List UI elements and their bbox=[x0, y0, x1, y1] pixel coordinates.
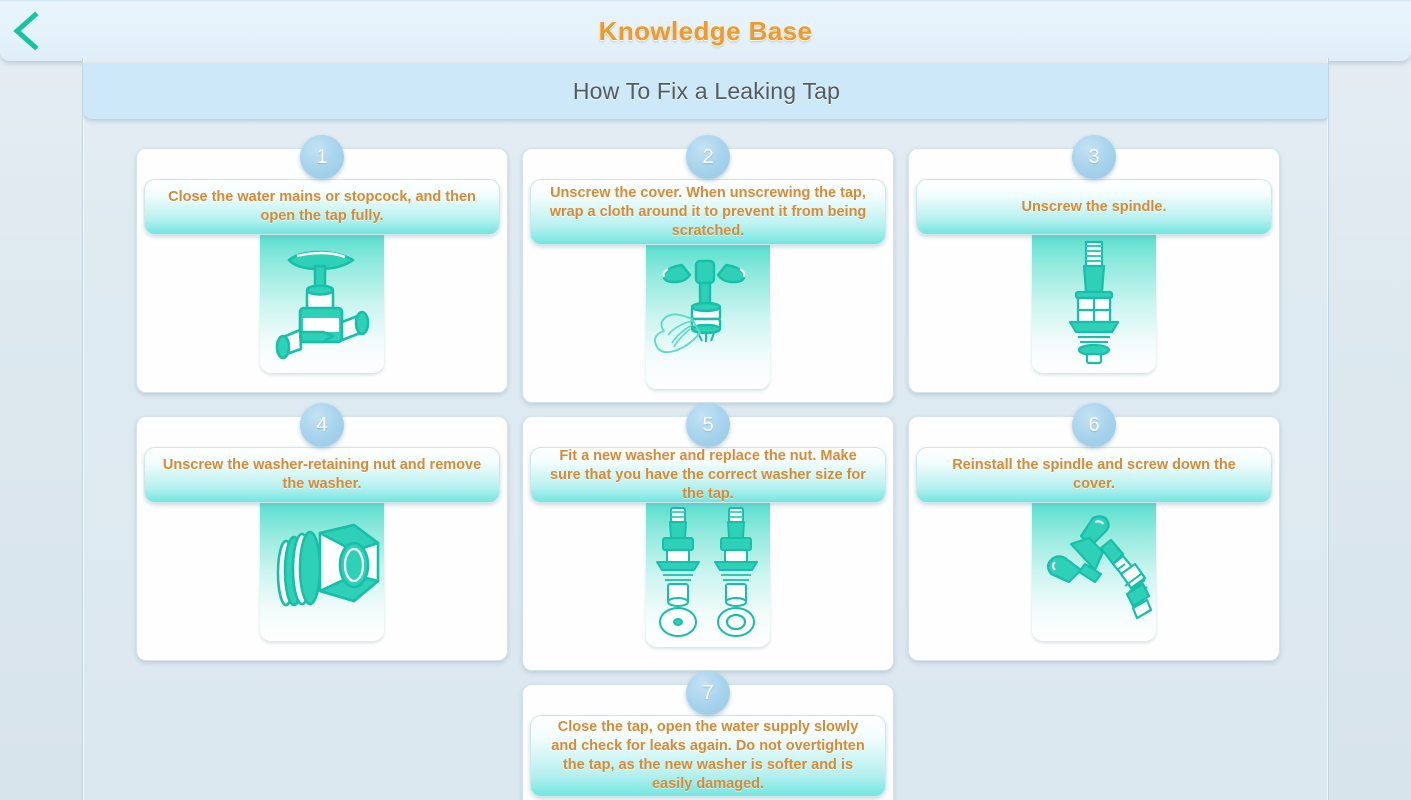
step-image-panel bbox=[1032, 499, 1156, 641]
step-text-bubble: Unscrew the spindle. bbox=[916, 179, 1272, 235]
step-text: Reinstall the spindle and screw down the… bbox=[931, 456, 1257, 494]
grid-spacer bbox=[901, 684, 1287, 800]
step-text-bubble: Fit a new washer and replace the nut. Ma… bbox=[530, 447, 886, 503]
step-text: Close the tap, open the water supply slo… bbox=[545, 718, 871, 794]
app-header: Knowledge Base bbox=[0, 0, 1411, 62]
content-panel: How To Fix a Leaking Tap 1 Close the wat… bbox=[82, 58, 1329, 800]
grid-cell: 7 Close the tap, open the water supply s… bbox=[515, 684, 901, 800]
tap-spindle-illustration bbox=[1046, 238, 1142, 366]
step-text: Unscrew the washer-retaining nut and rem… bbox=[159, 456, 485, 494]
step-text-bubble: Unscrew the washer-retaining nut and rem… bbox=[144, 447, 500, 503]
step-text: Unscrew the spindle. bbox=[1021, 198, 1166, 217]
step-image-panel bbox=[260, 231, 384, 373]
page-title: How To Fix a Leaking Tap bbox=[573, 78, 840, 105]
step-image-panel bbox=[646, 241, 770, 389]
grid-cell: 5 Fit a new washer and replace the nut. … bbox=[515, 416, 901, 671]
step-number-badge: 1 bbox=[300, 135, 344, 179]
chevron-left-icon bbox=[11, 11, 41, 51]
grid-cell: 4 Unscrew the washer-retaining nut and r… bbox=[129, 416, 515, 671]
step-text: Fit a new washer and replace the nut. Ma… bbox=[545, 447, 871, 504]
grid-cell: 1 Close the water mains or stopcock, and… bbox=[129, 148, 515, 403]
step-text: Close the water mains or stopcock, and t… bbox=[159, 188, 485, 226]
app-title: Knowledge Base bbox=[0, 0, 1411, 62]
step-number-badge: 4 bbox=[300, 403, 344, 447]
step-card[interactable]: 3 Unscrew the spindle. bbox=[908, 148, 1280, 393]
step-image-panel bbox=[260, 499, 384, 641]
stopcock-valve-illustration bbox=[267, 238, 377, 366]
step-card[interactable]: 5 Fit a new washer and replace the nut. … bbox=[522, 416, 894, 671]
two-spindles-and-washers-illustration bbox=[649, 504, 767, 642]
step-card[interactable]: 2 Unscrew the cover. When unscrewing the… bbox=[522, 148, 894, 403]
grid-cell: 6 Reinstall the spindle and screw down t… bbox=[901, 416, 1287, 671]
step-number-badge: 2 bbox=[686, 135, 730, 179]
steps-grid: 1 Close the water mains or stopcock, and… bbox=[129, 148, 1289, 800]
tap-wrapped-in-cloth-illustration bbox=[652, 249, 764, 381]
step-number-badge: 5 bbox=[686, 403, 730, 447]
grid-spacer bbox=[129, 684, 515, 800]
step-text-bubble: Unscrew the cover. When unscrewing the t… bbox=[530, 179, 886, 245]
step-image-panel bbox=[646, 499, 770, 647]
step-card[interactable]: 1 Close the water mains or stopcock, and… bbox=[136, 148, 508, 393]
step-card[interactable]: 7 Close the tap, open the water supply s… bbox=[522, 684, 894, 800]
step-card[interactable]: 6 Reinstall the spindle and screw down t… bbox=[908, 416, 1280, 661]
app-root: Knowledge Base How To Fix a Leaking Tap … bbox=[0, 0, 1411, 800]
step-image-panel bbox=[1032, 231, 1156, 373]
step-text: Unscrew the cover. When unscrewing the t… bbox=[545, 184, 871, 241]
step-text-bubble: Close the tap, open the water supply slo… bbox=[530, 715, 886, 797]
page-title-bar: How To Fix a Leaking Tap bbox=[83, 63, 1329, 119]
washer-retaining-nut-illustration bbox=[264, 511, 380, 629]
step-number-badge: 7 bbox=[686, 671, 730, 715]
step-card[interactable]: 4 Unscrew the washer-retaining nut and r… bbox=[136, 416, 508, 661]
grid-cell: 3 Unscrew the spindle. bbox=[901, 148, 1287, 403]
step-text-bubble: Close the water mains or stopcock, and t… bbox=[144, 179, 500, 235]
grid-cell: 2 Unscrew the cover. When unscrewing the… bbox=[515, 148, 901, 403]
step-number-badge: 6 bbox=[1072, 403, 1116, 447]
back-button[interactable] bbox=[0, 0, 52, 62]
step-text-bubble: Reinstall the spindle and screw down the… bbox=[916, 447, 1272, 503]
step-number-badge: 3 bbox=[1072, 135, 1116, 179]
tap-handle-and-spindle-illustration bbox=[1035, 508, 1153, 632]
